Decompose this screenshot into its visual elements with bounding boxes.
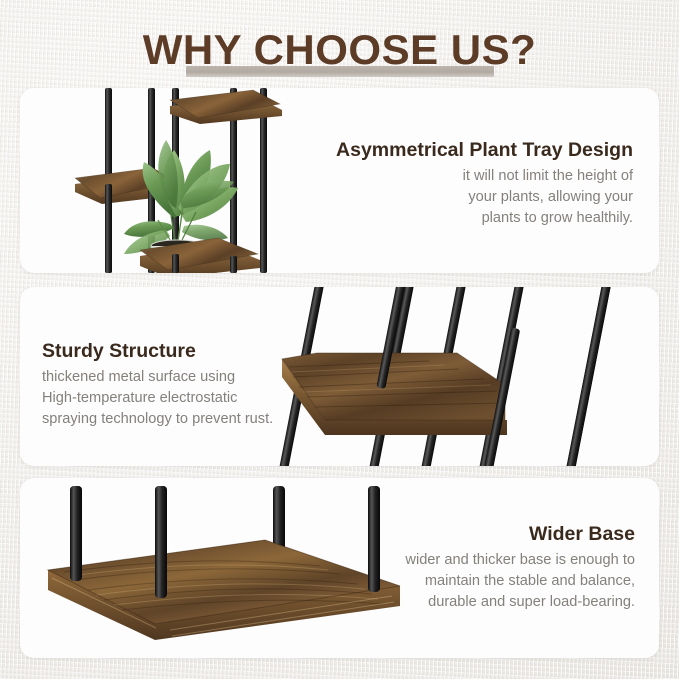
wide-wooden-base <box>48 540 400 640</box>
card-1-body-line: plants to grow healthily. <box>336 208 633 229</box>
card-2-body-line: thickened metal surface using <box>42 367 273 388</box>
card-3-body-line: maintain the stable and balance, <box>405 571 635 592</box>
shelf-closeup-image <box>259 287 659 466</box>
card-2-body-line: spraying technology to prevent rust. <box>42 409 273 430</box>
metal-pole <box>172 254 179 273</box>
card-1-body: it will not limit the height of your pla… <box>336 166 633 229</box>
wide-base-image <box>20 478 420 658</box>
metal-leg <box>368 486 380 592</box>
card-2-heading: Sturdy Structure <box>42 339 273 363</box>
card-1-text-block: Asymmetrical Plant Tray Design it will n… <box>336 138 633 229</box>
infographic-page: WHY CHOOSE US? <box>0 0 679 679</box>
page-title-area: WHY CHOOSE US? <box>0 22 679 86</box>
metal-leg <box>155 486 167 598</box>
card-1-heading: Asymmetrical Plant Tray Design <box>336 138 633 162</box>
feature-card-wider-base: Wider Base wider and thicker base is eno… <box>20 478 659 658</box>
page-title: WHY CHOOSE US? <box>0 22 679 78</box>
wood-shelf-closeup <box>282 350 507 435</box>
metal-leg <box>70 486 82 581</box>
feature-card-asymmetrical-plant-tray-design: Asymmetrical Plant Tray Design it will n… <box>20 88 659 273</box>
card-3-body-line: durable and super load-bearing. <box>405 592 635 613</box>
card-1-body-line: it will not limit the height of <box>336 166 633 187</box>
card-3-text-block: Wider Base wider and thicker base is eno… <box>405 522 635 613</box>
metal-pole <box>105 184 112 273</box>
card-2-body: thickened metal surface using High-tempe… <box>42 367 273 430</box>
card-2-text-block: Sturdy Structure thickened metal surface… <box>42 339 273 430</box>
card-3-body-line: wider and thicker base is enough to <box>405 550 635 571</box>
card-3-body: wider and thicker base is enough to main… <box>405 550 635 613</box>
card-1-body-line: your plants, allowing your <box>336 187 633 208</box>
card-2-body-line: High-temperature electrostatic <box>42 388 273 409</box>
plant-stand-image <box>20 88 320 273</box>
card-3-heading: Wider Base <box>405 522 635 546</box>
feature-card-sturdy-structure: Sturdy Structure thickened metal surface… <box>20 287 659 466</box>
metal-pole <box>230 256 237 273</box>
